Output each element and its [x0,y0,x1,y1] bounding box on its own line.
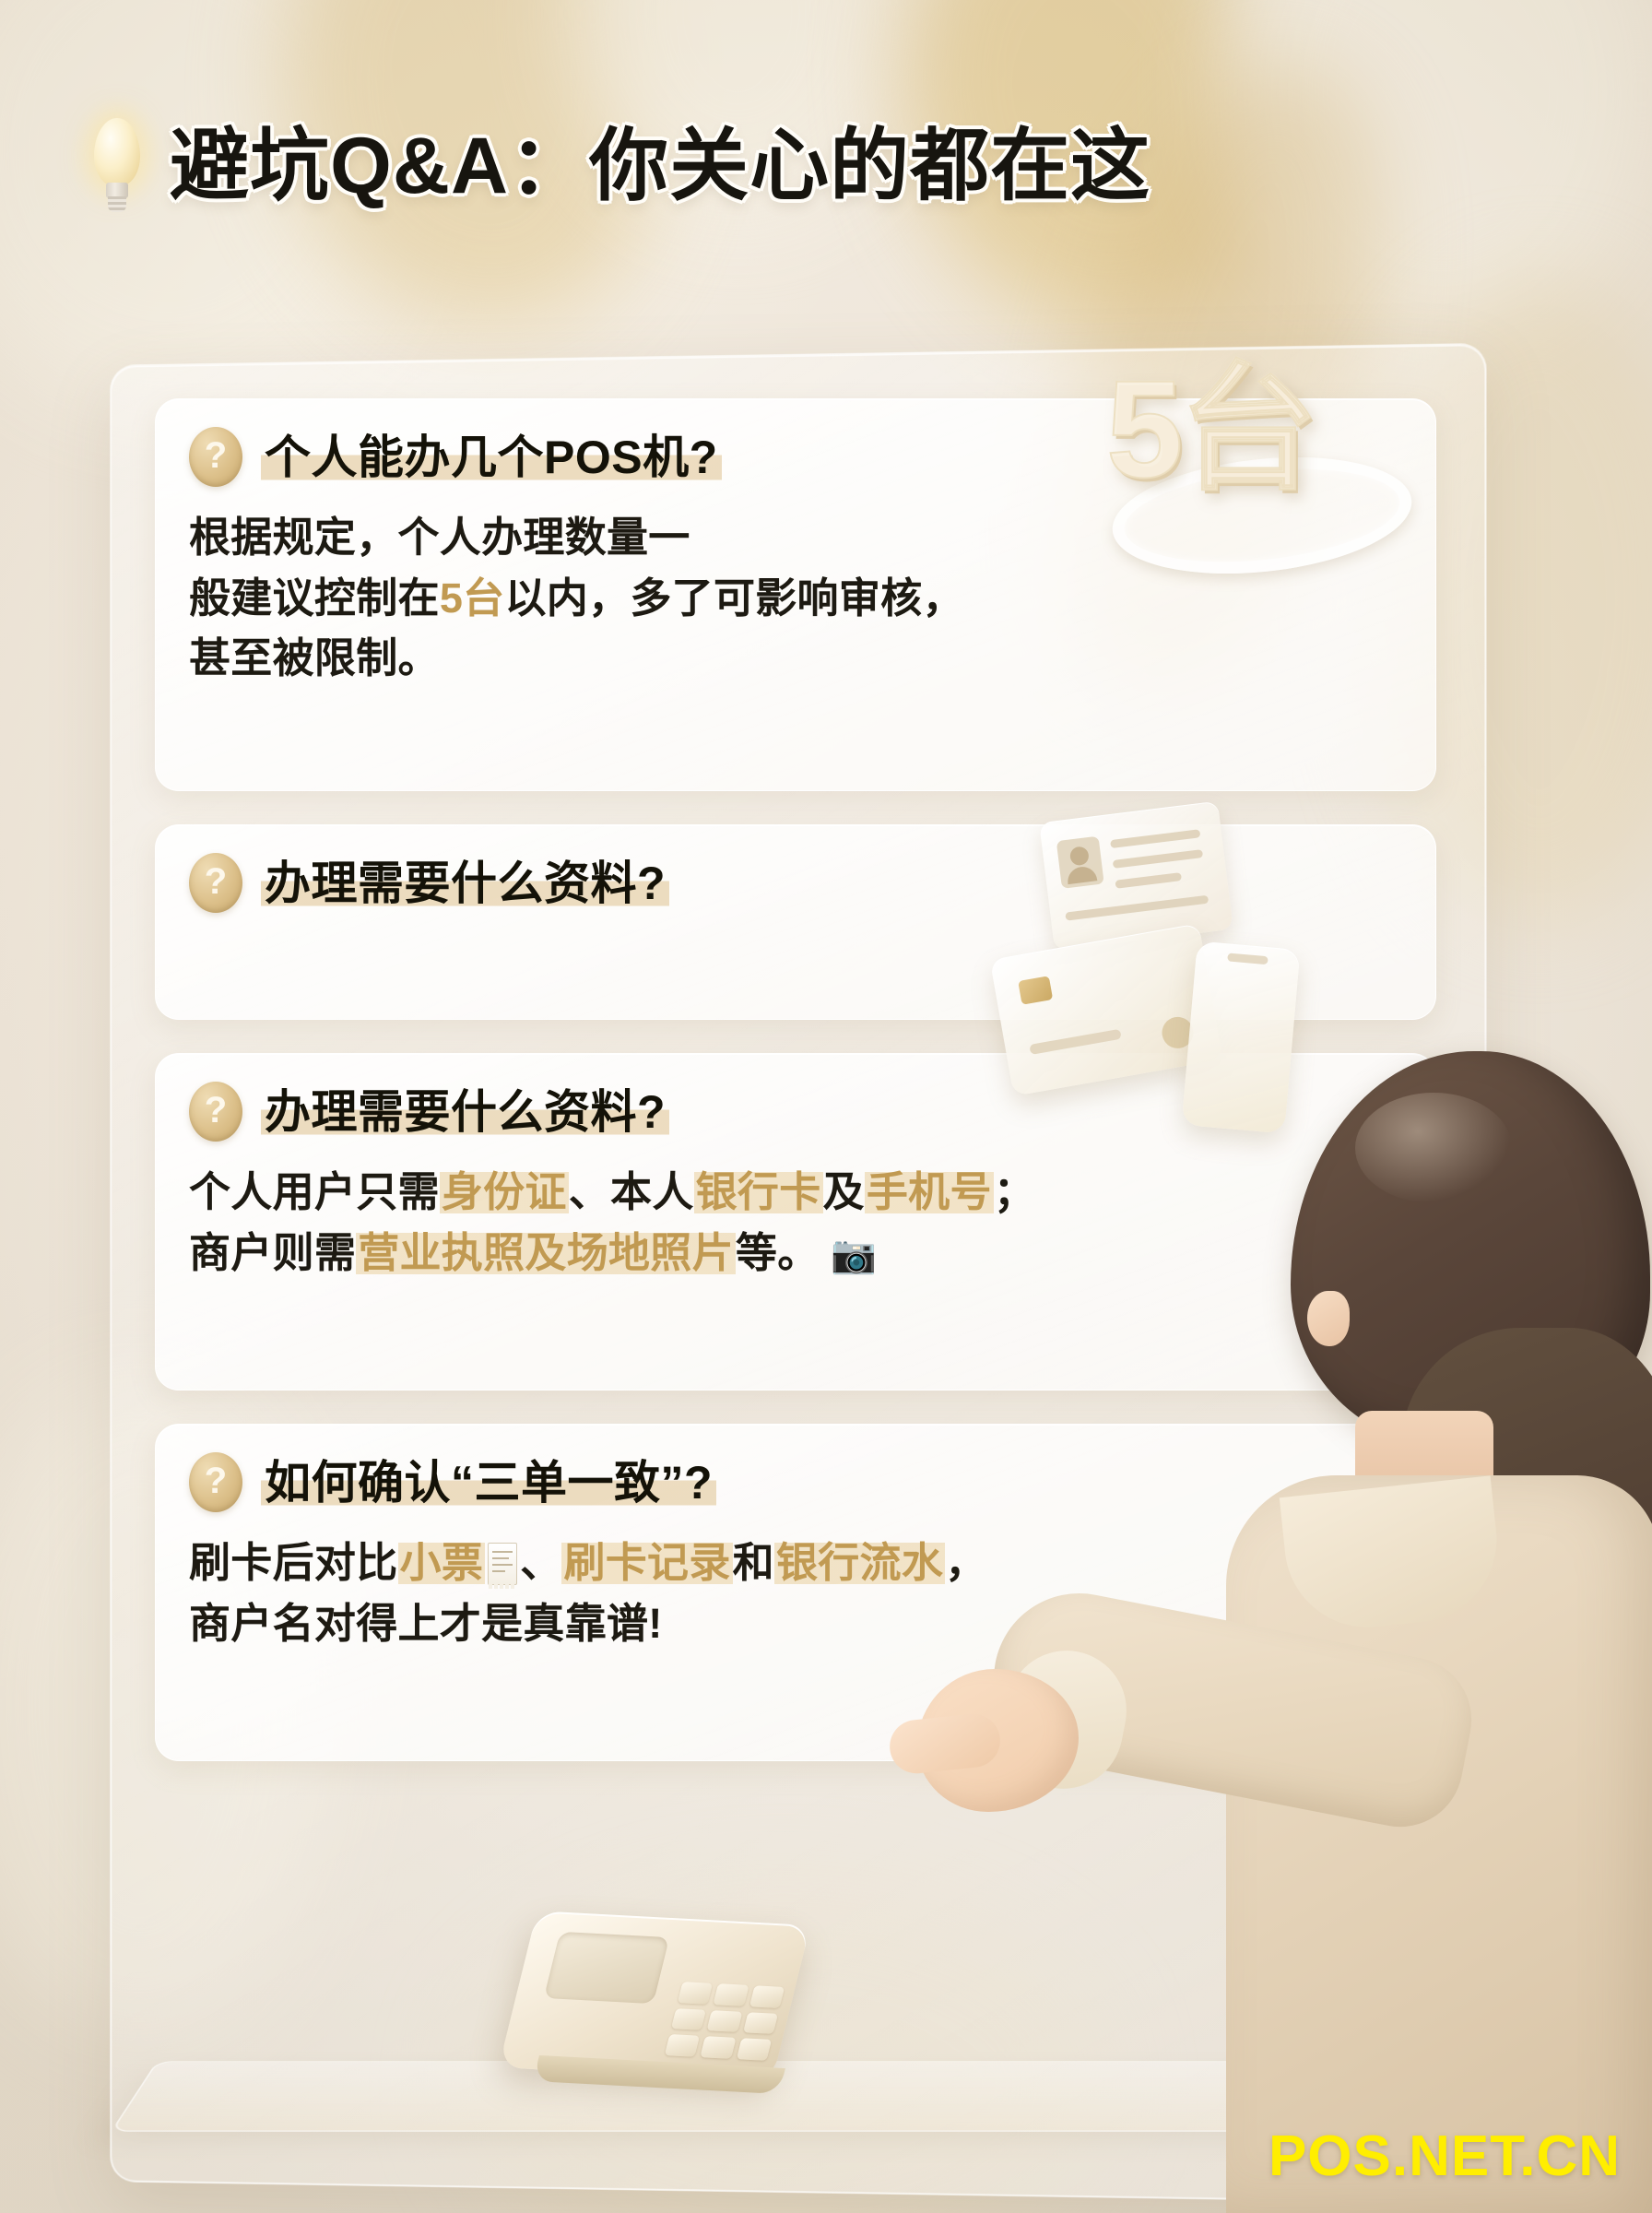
question-mark-icon: ? [189,1082,242,1142]
highlight-phone: 手机号 [865,1168,994,1215]
watermark: POS.NET.CN [1268,2124,1621,2189]
question-title: 办理需要什么资料? [261,857,669,910]
question-title: 个人能办几个POS机? [261,431,722,484]
highlight-statement: 银行流水 [774,1539,945,1586]
answer-text: 刷卡后对比小票、刷卡记录和银行流水， 商户名对得上才是真靠谱! [189,1533,1402,1653]
qa-card-list: ? 个人能办几个POS机? 根据规定，个人办理数量一 般建议控制在5台以内，多了… [155,398,1436,1794]
question-title: 如何确认“三单一致”? [261,1456,716,1509]
question-row: ? 办理需要什么资料? [189,1082,1402,1142]
question-mark-icon: ? [189,427,242,487]
lightbulb-icon [88,118,146,214]
question-mark-icon: ? [189,853,242,913]
qa-card[interactable]: ? 个人能办几个POS机? 根据规定，个人办理数量一 般建议控制在5台以内，多了… [155,398,1436,791]
page-title: 避坑Q&A：你关心的都在这 [170,126,1150,206]
highlight-idcard: 身份证 [440,1168,569,1215]
receipt-icon [488,1543,517,1585]
page-header: 避坑Q&A：你关心的都在这 [88,118,1150,214]
highlight-license: 营业执照及场地照片 [356,1229,736,1276]
highlight-receipt: 小票 [398,1539,486,1586]
highlight-5tai: 5台 [440,574,505,621]
question-mark-icon: ? [189,1452,242,1512]
qa-card[interactable]: ? 办理需要什么资料? [155,824,1436,1020]
question-row: ? 如何确认“三单一致”? [189,1452,1402,1512]
highlight-record: 刷卡记录 [561,1539,732,1586]
qa-card[interactable]: ? 办理需要什么资料? 个人用户只需身份证、本人银行卡及手机号； 商户则需营业执… [155,1053,1436,1391]
question-row: ? 办理需要什么资料? [189,853,1402,913]
camera-icon: 📷 [831,1235,877,1275]
answer-text: 个人用户只需身份证、本人银行卡及手机号； 商户则需营业执照及场地照片等。 📷 [189,1162,1402,1283]
highlight-bankcard: 银行卡 [694,1168,823,1215]
answer-text: 根据规定，个人办理数量一 般建议控制在5台以内，多了可影响审核， 甚至被限制。 [189,507,1402,689]
question-title: 办理需要什么资料? [261,1085,669,1139]
question-row: ? 个人能办几个POS机? [189,427,1402,487]
qa-card[interactable]: ? 如何确认“三单一致”? 刷卡后对比小票、刷卡记录和银行流水， 商户名对得上才… [155,1424,1436,1761]
